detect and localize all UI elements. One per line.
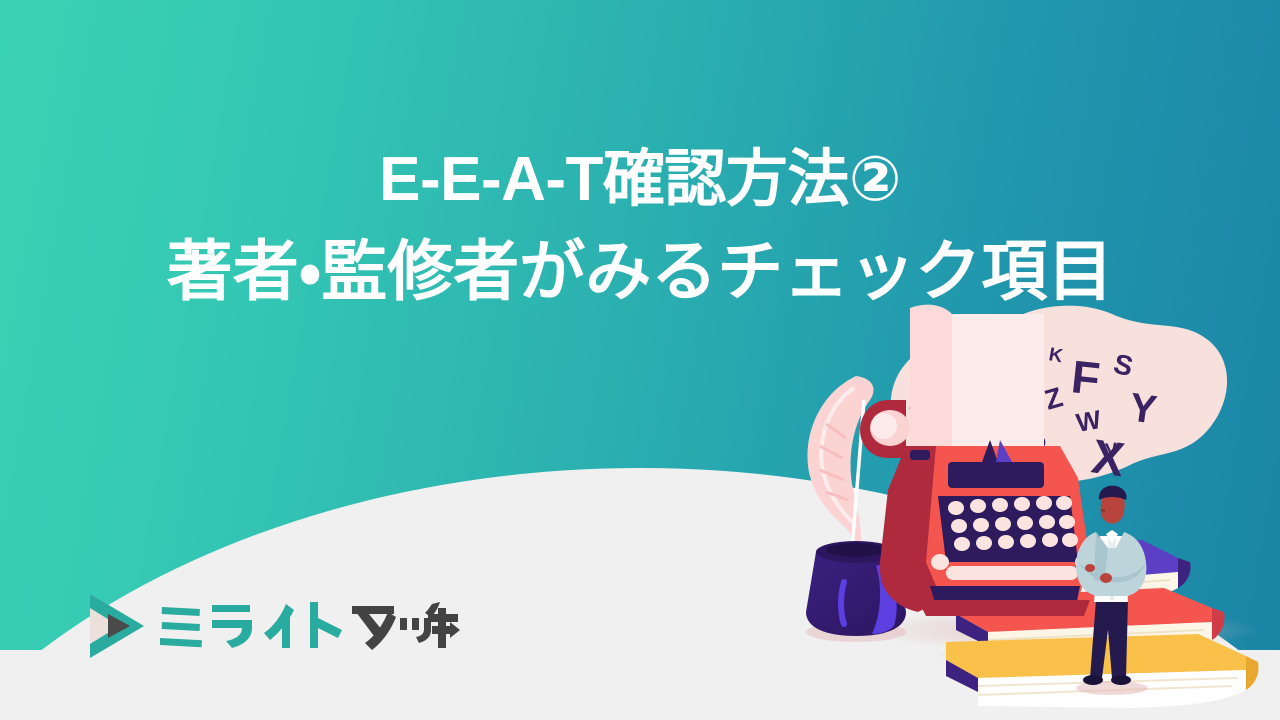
slide-canvas: U B C H K F S E D A O Z Y R W X V <box>0 0 1280 720</box>
paper-sheet <box>952 314 1044 468</box>
logo-char-mi <box>160 607 202 647</box>
logo-char-small-tsu <box>400 618 431 643</box>
play-triangle-mark <box>86 592 146 660</box>
logo-char-ra <box>212 605 252 648</box>
logo-char-to <box>310 602 342 648</box>
logo-char-i <box>264 604 294 648</box>
logo-char-ma <box>352 606 396 650</box>
page-title-line-2: 著者・監修者がみるチェック項目 <box>0 230 1280 312</box>
svg-text:V: V <box>1104 439 1118 460</box>
paper-sheet-back <box>910 305 952 468</box>
person-hand-right <box>1085 564 1095 572</box>
space-bar <box>946 566 1078 580</box>
brand-wordmark <box>160 600 460 652</box>
svg-text:F: F <box>1069 350 1102 405</box>
title-block: E-E-A-T確認方法② 著者・監修者がみるチェック項目 <box>0 142 1280 312</box>
person-hand-left <box>1100 573 1112 583</box>
typewriter-books-letters-illustration: U B C H K F S E D A O Z Y R W X V <box>760 300 1280 720</box>
brand-logo[interactable] <box>86 592 460 660</box>
page-title-line-1: E-E-A-T確認方法② <box>0 142 1280 218</box>
typebar-housing <box>948 462 1044 488</box>
